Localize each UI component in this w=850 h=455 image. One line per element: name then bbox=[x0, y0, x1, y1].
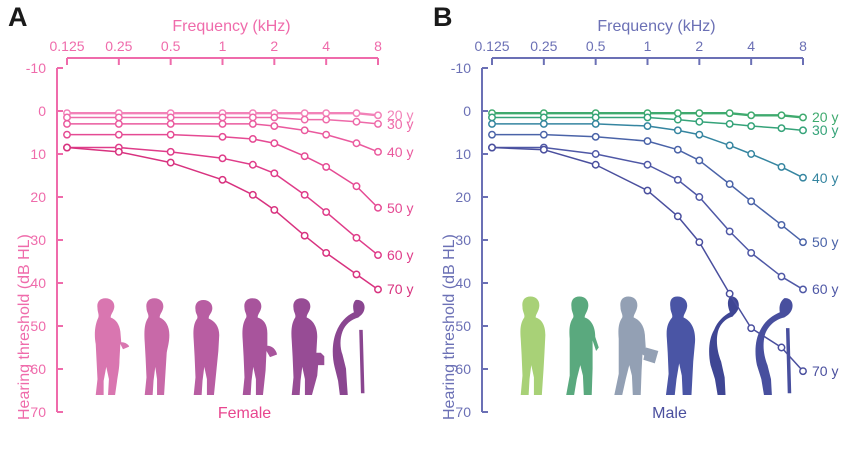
hearing-threshold-figure: AFrequency (kHz)0.1250.250.51248Hearing … bbox=[0, 0, 850, 455]
plot-canvas bbox=[425, 0, 850, 455]
silhouette-figure bbox=[614, 296, 658, 395]
silhouette-figure bbox=[193, 300, 219, 395]
series-curve bbox=[489, 144, 806, 292]
age-silhouettes bbox=[95, 298, 365, 395]
sex-label: Female bbox=[218, 405, 271, 423]
x-axis-spine bbox=[67, 58, 378, 65]
silhouette-figure bbox=[520, 296, 545, 395]
x-axis-spine bbox=[492, 58, 803, 65]
silhouette-figure bbox=[291, 298, 324, 395]
silhouette-figure bbox=[666, 296, 695, 395]
silhouette-figure bbox=[95, 298, 129, 395]
silhouette-figure bbox=[144, 298, 169, 395]
silhouette-figure bbox=[755, 298, 792, 395]
y-axis-spine bbox=[482, 68, 488, 412]
panel-a-female: AFrequency (kHz)0.1250.250.51248Hearing … bbox=[0, 0, 425, 455]
age-silhouettes bbox=[520, 296, 792, 395]
silhouette-figure bbox=[709, 296, 739, 395]
series-curve bbox=[489, 121, 806, 181]
sex-label: Male bbox=[652, 405, 687, 423]
y-axis-spine bbox=[57, 68, 63, 412]
silhouette-figure bbox=[333, 300, 365, 395]
panel-b-male: BFrequency (kHz)0.1250.250.51248Hearing … bbox=[425, 0, 850, 455]
silhouette-figure bbox=[566, 296, 599, 395]
series-curve bbox=[64, 144, 381, 258]
silhouette-figure bbox=[242, 298, 277, 395]
plot-canvas bbox=[0, 0, 425, 455]
series-curve bbox=[64, 131, 381, 211]
